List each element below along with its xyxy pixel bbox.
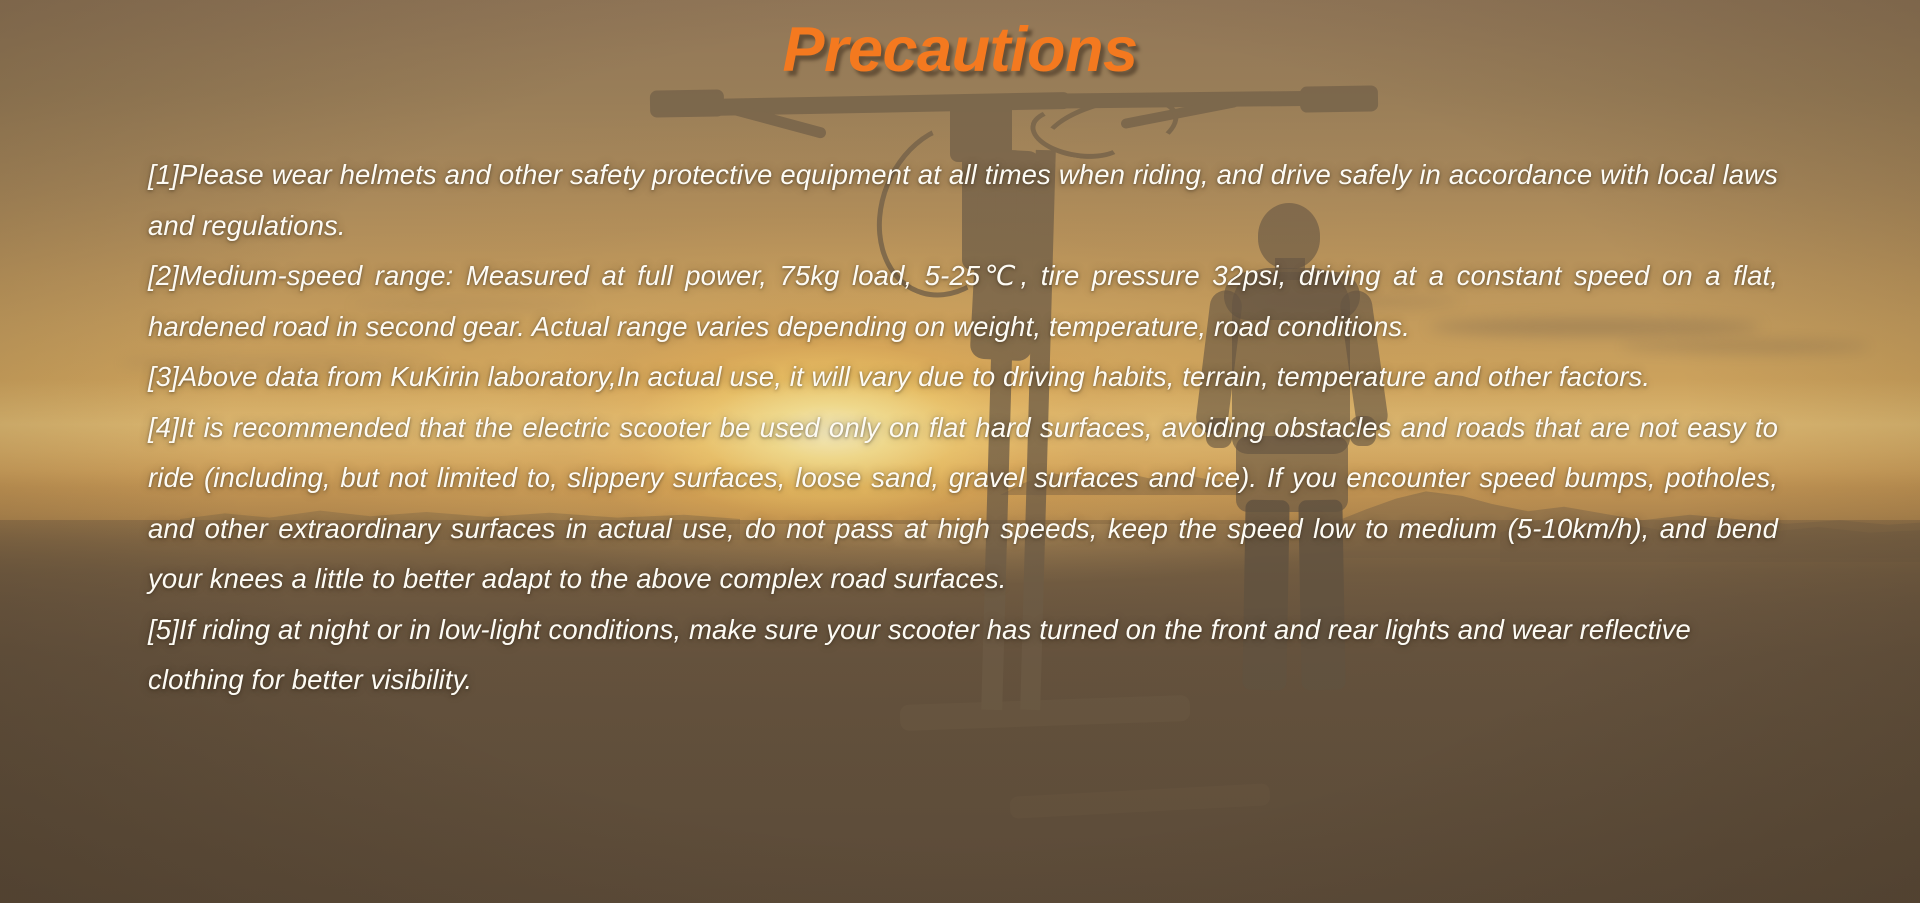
precaution-item-3: [3]Above data from KuKirin laboratory,In… bbox=[148, 352, 1778, 403]
page-title: Precautions bbox=[0, 14, 1920, 86]
content-overlay: Precautions [1]Please wear helmets and o… bbox=[0, 0, 1920, 903]
precaution-item-4: [4]It is recommended that the electric s… bbox=[148, 403, 1778, 605]
precautions-list: [1]Please wear helmets and other safety … bbox=[148, 150, 1778, 706]
precaution-item-1: [1]Please wear helmets and other safety … bbox=[148, 150, 1778, 251]
precaution-item-2: [2]Medium-speed range: Measured at full … bbox=[148, 251, 1778, 352]
precautions-banner: Precautions [1]Please wear helmets and o… bbox=[0, 0, 1920, 903]
precaution-item-5: [5]If riding at night or in low-light co… bbox=[148, 605, 1778, 706]
